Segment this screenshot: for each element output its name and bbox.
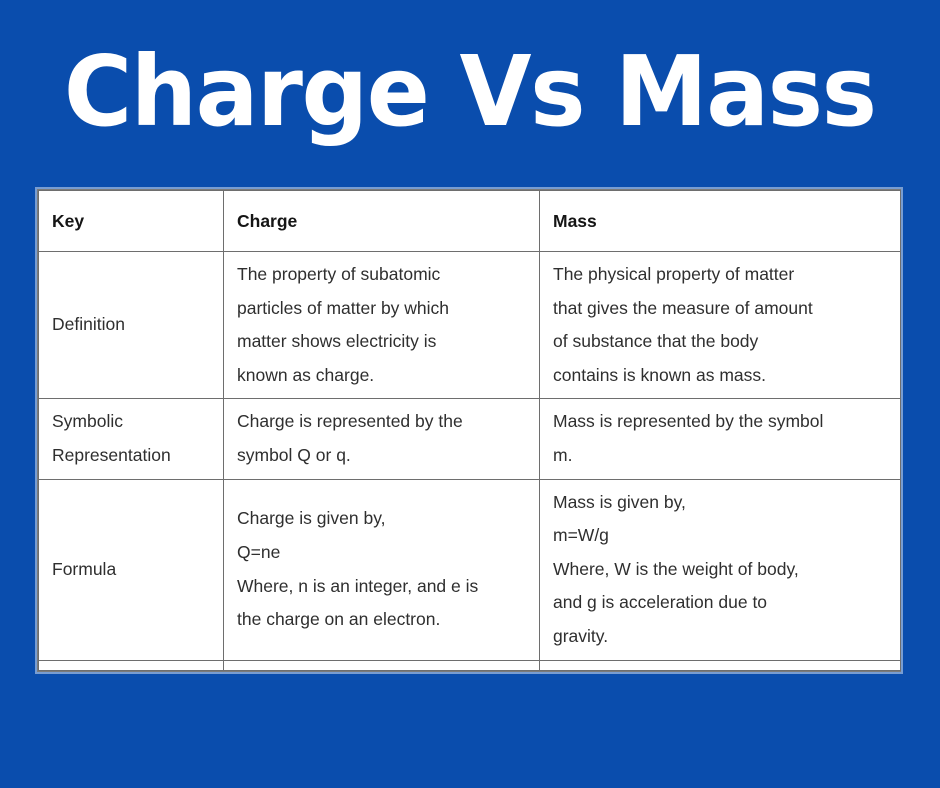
title-banner: Charge Vs Mass [0,0,940,190]
cell-clipped-charge [224,660,540,670]
text-line: Charge is given by, [237,502,525,536]
cell-text-lines: The property of subatomic particles of m… [237,258,525,392]
cell-text-lines: Charge is given by, Q=ne Where, n is an … [237,502,525,636]
text-line: Charge is represented by the [237,405,525,439]
text-line: The physical property of matter [553,258,886,292]
page-title: Charge Vs Mass [64,43,876,140]
table-row: Formula Charge is given by, Q=ne Where, … [39,479,901,660]
table-row: Definition The property of subatomic par… [39,252,901,399]
cell-mass-formula: Mass is given by, m=W/g Where, W is the … [540,479,901,660]
text-line: Q=ne [237,536,525,570]
table-body: Definition The property of subatomic par… [39,252,901,671]
text-line: gravity. [553,620,886,654]
cell-mass-definition: The physical property of matter that giv… [540,252,901,399]
text-line: symbol Q or q. [237,439,525,473]
row-key-definition: Definition [39,252,224,399]
text-line: known as charge. [237,359,525,393]
cell-text-lines: Mass is represented by the symbol m. [553,405,886,472]
cell-mass-symbolic-representation: Mass is represented by the symbol m. [540,399,901,479]
table-header-row: Key Charge Mass [39,191,901,252]
cell-clipped-key [39,660,224,670]
text-line: Mass is given by, [553,486,886,520]
text-line: The property of subatomic [237,258,525,292]
cell-clipped-mass [540,660,901,670]
cell-charge-definition: The property of subatomic particles of m… [224,252,540,399]
cell-text-lines: Mass is given by, m=W/g Where, W is the … [553,486,886,654]
text-line: particles of matter by which [237,292,525,326]
text-line: Mass is represented by the symbol [553,405,886,439]
cell-text-lines: The physical property of matter that giv… [553,258,886,392]
text-line: m. [553,439,886,473]
column-header-key: Key [39,191,224,252]
text-line: m=W/g [553,519,886,553]
cell-charge-formula: Charge is given by, Q=ne Where, n is an … [224,479,540,660]
text-line: contains is known as mass. [553,359,886,393]
text-line: and g is acceleration due to [553,586,886,620]
column-header-charge: Charge [224,191,540,252]
table-row-clipped [39,660,901,670]
text-line: Where, n is an integer, and e is [237,570,525,604]
text-line: the charge on an electron. [237,603,525,637]
cell-charge-symbolic-representation: Charge is represented by the symbol Q or… [224,399,540,479]
comparison-table-container: Key Charge Mass Definition The property … [37,189,901,672]
column-header-mass: Mass [540,191,901,252]
table-header: Key Charge Mass [39,191,901,252]
text-line: of substance that the body [553,325,886,359]
table-row: Symbolic Representation Charge is repres… [39,399,901,479]
row-key-formula: Formula [39,479,224,660]
comparison-table: Key Charge Mass Definition The property … [38,190,901,671]
cell-text-lines: Charge is represented by the symbol Q or… [237,405,525,472]
row-key-symbolic-representation: Symbolic Representation [39,399,224,479]
text-line: Where, W is the weight of body, [553,553,886,587]
text-line: matter shows electricity is [237,325,525,359]
text-line: that gives the measure of amount [553,292,886,326]
